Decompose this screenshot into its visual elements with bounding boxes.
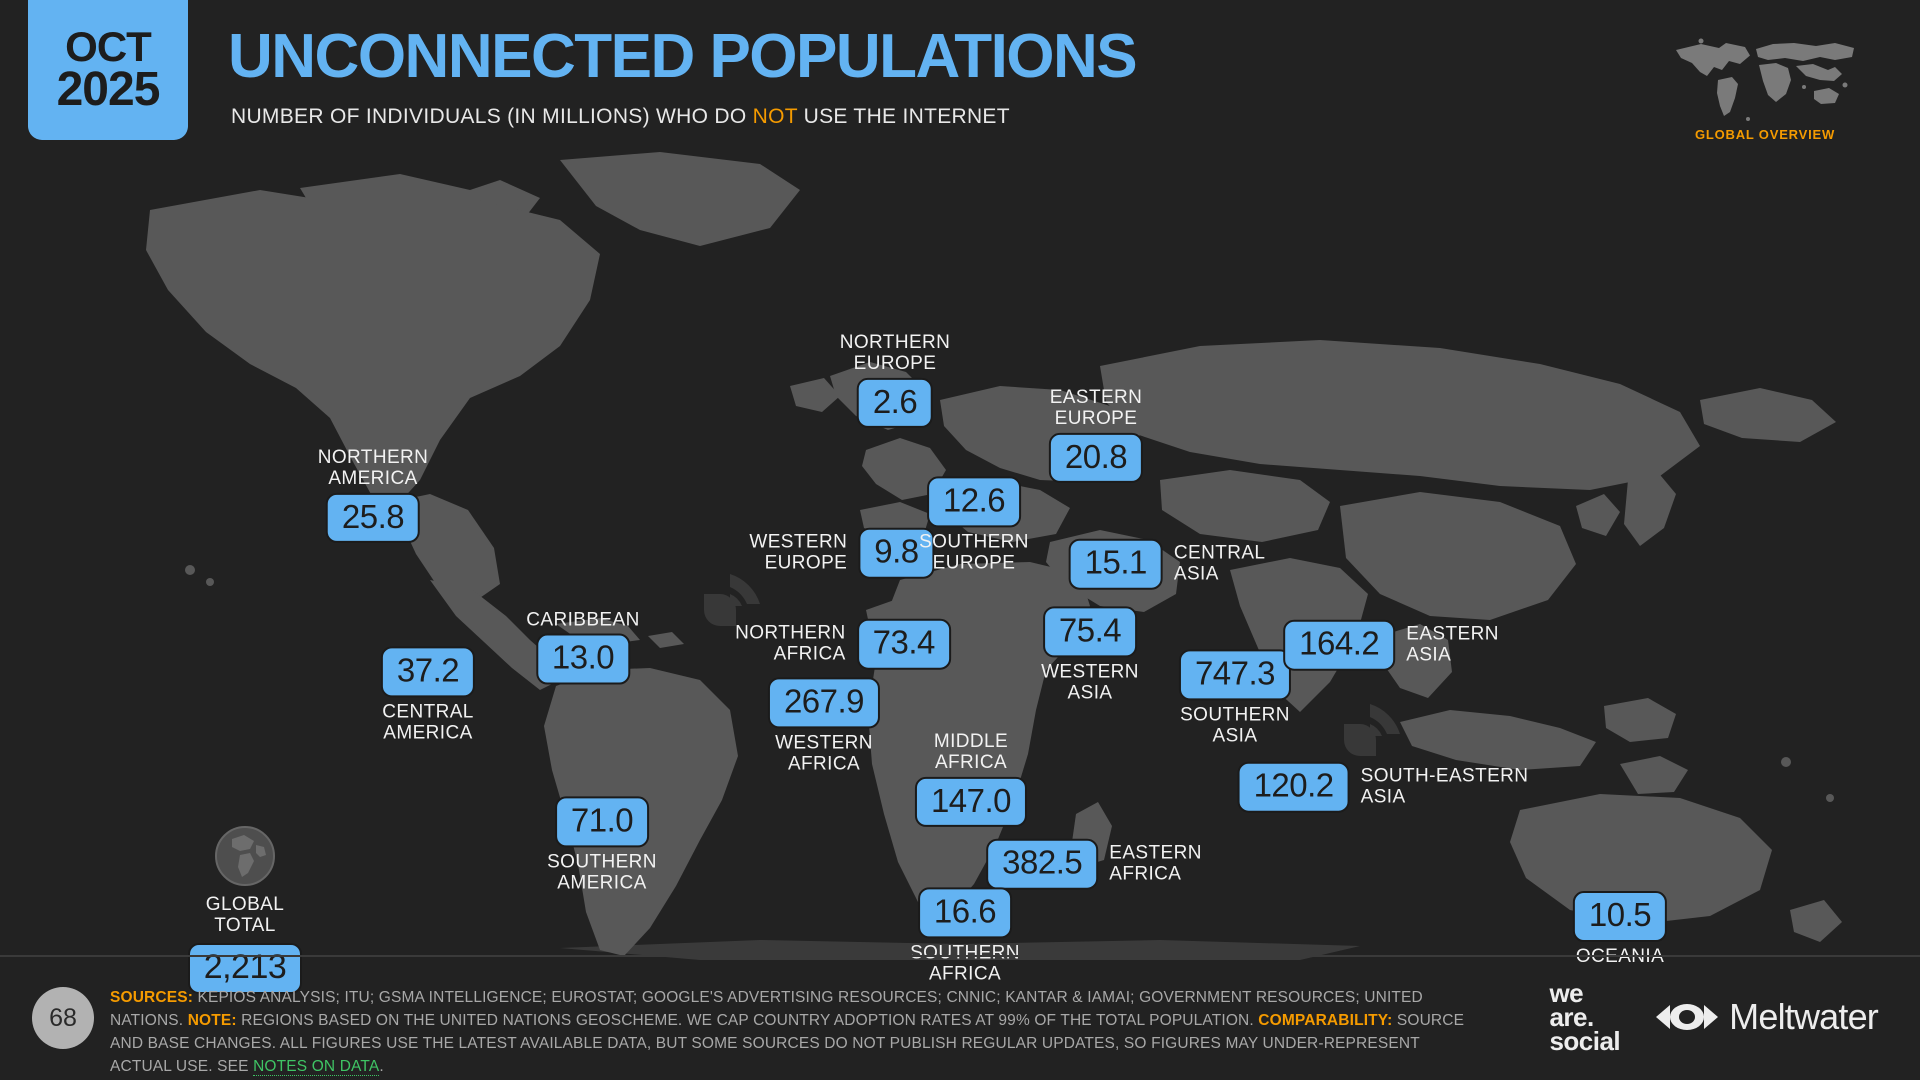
region-value-badge: 25.8 [326, 492, 420, 543]
region-value-badge: 13.0 [536, 634, 630, 685]
region-value-badge: 12.6 [927, 476, 1021, 527]
date-month: OCT [65, 27, 151, 67]
sources-period: . [379, 1058, 383, 1075]
footer-divider [0, 955, 1920, 957]
note-label: NOTE: [188, 1012, 237, 1029]
region-value-badge: 10.5 [1573, 891, 1667, 942]
region-value-badge: 120.2 [1238, 762, 1350, 813]
world-map-thumbnail-icon [1670, 28, 1860, 123]
date-badge: OCT 2025 [28, 0, 188, 140]
region-value-badge: 37.2 [381, 646, 475, 697]
region-value-badge: 382.5 [986, 839, 1098, 890]
notes-on-data-link[interactable]: NOTES ON DATA [253, 1058, 379, 1076]
region-value-badge: 75.4 [1043, 606, 1137, 657]
region-node: NORTHERN AMERICA25.8 [318, 447, 429, 543]
date-year: 2025 [57, 66, 160, 113]
region-label: WESTERN EUROPE [749, 532, 847, 575]
region-node: WESTERN EUROPE9.8 [749, 528, 934, 579]
region-label: SOUTHERN EUROPE [919, 531, 1029, 574]
region-node: 267.9WESTERN AFRICA [768, 677, 880, 774]
footer-logos: weare.social Meltwater [1549, 981, 1878, 1054]
region-value-badge: 267.9 [768, 677, 880, 728]
region-node: NORTHERN AFRICA73.4 [735, 619, 951, 670]
region-node: 382.5EASTERN AFRICA [986, 839, 1202, 890]
global-overview-label: GLOBAL OVERVIEW [1670, 127, 1860, 142]
meltwater-logo: Meltwater [1654, 996, 1878, 1038]
region-label: CARIBBEAN [526, 610, 639, 631]
region-label: EASTERN EUROPE [1050, 387, 1143, 430]
page-title: UNCONNECTED POPULATIONS [228, 26, 1136, 88]
note-text: REGIONS BASED ON THE UNITED NATIONS GEOS… [237, 1012, 1259, 1029]
region-value-badge: 164.2 [1283, 620, 1395, 671]
region-value-badge: 20.8 [1049, 432, 1143, 483]
region-label: NORTHERN EUROPE [840, 332, 951, 375]
header-right: GLOBAL OVERVIEW [1670, 28, 1860, 142]
region-value-badge: 2.6 [857, 377, 933, 428]
we-are-social-logo: weare.social [1549, 981, 1620, 1054]
region-label: EASTERN ASIA [1406, 624, 1499, 667]
subtitle-pre: NUMBER OF INDIVIDUALS (IN MILLIONS) WHO … [231, 105, 753, 128]
region-value-badge: 71.0 [555, 796, 649, 847]
region-label: MIDDLE AFRICA [934, 731, 1008, 774]
we-are-social-line: social [1549, 1029, 1620, 1053]
region-node: 75.4WESTERN ASIA [1041, 606, 1139, 703]
region-label: CENTRAL AMERICA [382, 701, 473, 744]
world-map: NORTHERN AMERICA25.837.2CENTRAL AMERICAC… [0, 150, 1920, 960]
page-number: 68 [32, 987, 94, 1049]
datareportal-watermark-icon [1340, 698, 1404, 760]
region-node: EASTERN EUROPE20.8 [1049, 387, 1143, 483]
page-subtitle: NUMBER OF INDIVIDUALS (IN MILLIONS) WHO … [231, 105, 1010, 129]
region-label: WESTERN AFRICA [775, 732, 873, 775]
region-node: 37.2CENTRAL AMERICA [381, 646, 475, 743]
comparability-label: COMPARABILITY: [1258, 1012, 1392, 1029]
region-label: NORTHERN AFRICA [735, 623, 846, 666]
sources-note: SOURCES: KEPIOS ANALYSIS; ITU; GSMA INTE… [110, 987, 1480, 1079]
region-node: 747.3SOUTHERN ASIA [1179, 649, 1291, 746]
region-label: SOUTHERN AMERICA [547, 851, 657, 894]
global-total-label: GLOBAL TOTAL [180, 894, 310, 937]
region-node: 164.2EASTERN ASIA [1283, 620, 1499, 671]
region-label: SOUTH-EASTERN ASIA [1361, 766, 1529, 809]
region-node: NORTHERN EUROPE2.6 [840, 332, 951, 428]
globe-icon [214, 825, 276, 887]
region-node: 15.1CENTRAL ASIA [1069, 539, 1266, 590]
region-value-badge: 147.0 [915, 776, 1027, 827]
region-label: SOUTHERN ASIA [1180, 704, 1290, 747]
region-node: MIDDLE AFRICA147.0 [915, 731, 1027, 827]
region-label: NORTHERN AMERICA [318, 447, 429, 490]
header: OCT 2025 UNCONNECTED POPULATIONS NUMBER … [0, 0, 1920, 175]
region-value-badge: 747.3 [1179, 649, 1291, 700]
subtitle-highlight: NOT [753, 105, 798, 128]
region-label: WESTERN ASIA [1041, 661, 1139, 704]
region-node: 120.2SOUTH-EASTERN ASIA [1238, 762, 1529, 813]
subtitle-post: USE THE INTERNET [797, 105, 1009, 128]
meltwater-eye-icon [1654, 1000, 1720, 1034]
region-value-badge: 16.6 [918, 887, 1012, 938]
region-label: CENTRAL ASIA [1174, 543, 1265, 586]
region-value-badge: 73.4 [857, 619, 951, 670]
region-label: EASTERN AFRICA [1109, 843, 1202, 886]
region-value-badge: 15.1 [1069, 539, 1163, 590]
region-node: CARIBBEAN13.0 [526, 610, 639, 685]
region-node: 12.6SOUTHERN EUROPE [919, 476, 1029, 573]
sources-label: SOURCES: [110, 989, 193, 1006]
meltwater-wordmark: Meltwater [1729, 996, 1878, 1038]
footer: 68 SOURCES: KEPIOS ANALYSIS; ITU; GSMA I… [0, 955, 1920, 1080]
region-node: 71.0SOUTHERN AMERICA [547, 796, 657, 893]
